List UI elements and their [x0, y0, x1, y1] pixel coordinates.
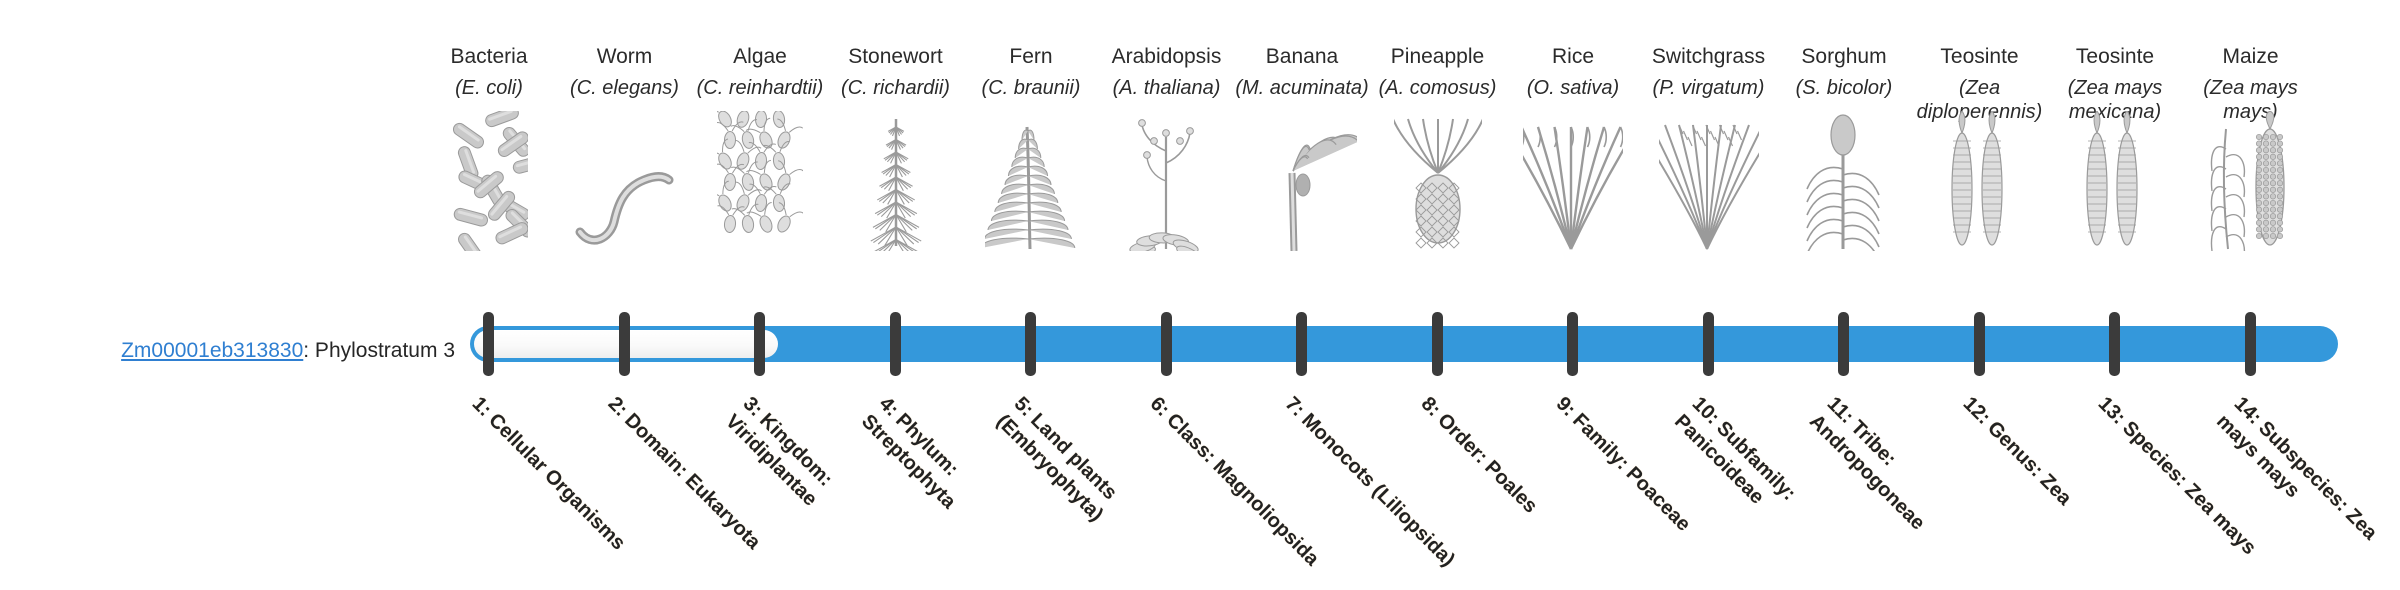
phylostratum-label: 14: Subspecies: Zea mays mays [2210, 392, 2400, 590]
species-common-name: Rice [1498, 44, 1648, 69]
species-common-name: Stonewort [821, 44, 971, 69]
species-column: Bacteria(E. coli)1: Cellular Organisms [414, 0, 564, 580]
species-column: Maize(Zea mays mays)14: Subspecies: Zea … [2176, 0, 2326, 580]
species-scientific-name: (E. coli) [414, 76, 564, 100]
bacteria-rods-illustration [414, 166, 564, 251]
phylostratum-tick[interactable] [1161, 312, 1172, 376]
phylostratum-tick[interactable] [2245, 312, 2256, 376]
species-scientific-name: (C. richardii) [821, 76, 971, 100]
species-column: Switchgrass(P. virgatum)10: Subfamily: P… [1634, 0, 1784, 580]
species-column: Pineapple(A. comosus)8: Order: Poales [1363, 0, 1513, 580]
teosinte-mexicana-ears-illustration [2040, 166, 2190, 251]
species-common-name: Teosinte [2040, 44, 2190, 69]
species-common-name: Algae [685, 44, 835, 69]
fern-frond-illustration [956, 166, 1106, 251]
phylostratum-tick[interactable] [1974, 312, 1985, 376]
sorghum-plant-illustration [1769, 166, 1919, 251]
species-common-name: Bacteria [414, 44, 564, 69]
phylostratum-tick[interactable] [1703, 312, 1714, 376]
species-common-name: Worm [550, 44, 700, 69]
species-scientific-name: (O. sativa) [1498, 76, 1648, 100]
species-column: Teosinte(Zea mays mexicana)13: Species: … [2040, 0, 2190, 580]
species-column: Arabidopsis(A. thaliana)6: Class: Magnol… [1092, 0, 1242, 580]
species-scientific-name: (C. braunii) [956, 76, 1106, 100]
phylostratum-tick[interactable] [483, 312, 494, 376]
phylostratum-tick[interactable] [1432, 312, 1443, 376]
species-column: Worm(C. elegans)2: Domain: Eukaryota [550, 0, 700, 580]
gene-id-link[interactable]: Zm00001eb313830 [121, 339, 303, 362]
phylostratum-tick[interactable] [1838, 312, 1849, 376]
species-common-name: Maize [2176, 44, 2326, 69]
pineapple-plant-illustration [1363, 166, 1513, 251]
teosinte-ears-illustration [1905, 166, 2055, 251]
species-column: Algae(C. reinhardtii)3: Kingdom: Viridip… [685, 0, 835, 580]
rice-plant-illustration [1498, 166, 1648, 251]
species-common-name: Switchgrass [1634, 44, 1784, 69]
species-common-name: Pineapple [1363, 44, 1513, 69]
switchgrass-plant-illustration [1634, 166, 1784, 251]
gene-row-label: Zm00001eb313830: Phylostratum 3 [0, 338, 455, 364]
phylostratum-tick[interactable] [619, 312, 630, 376]
species-scientific-name: (A. comosus) [1363, 76, 1513, 100]
stonewort-chara-illustration [821, 166, 971, 251]
species-column: Teosinte(Zea diploperennis)12: Genus: Ze… [1905, 0, 2055, 580]
species-column: Stonewort(C. richardii)4: Phylum: Strept… [821, 0, 971, 580]
phylostratum-tick[interactable] [754, 312, 765, 376]
phylostratum-timeline: Zm00001eb313830: Phylostratum 3 Bacteria… [0, 0, 2400, 580]
green-algae-cells-illustration [685, 166, 835, 251]
species-scientific-name: (C. reinhardtii) [685, 76, 835, 100]
species-common-name: Teosinte [1905, 44, 2055, 69]
species-column: Sorghum(S. bicolor)11: Tribe: Andropogon… [1769, 0, 1919, 580]
species-column: Fern(C. braunii)5: Land plants (Embryoph… [956, 0, 1106, 580]
species-scientific-name: (C. elegans) [550, 76, 700, 100]
species-common-name: Banana [1227, 44, 1377, 69]
species-column: Rice(O. sativa)9: Family: Poaceae [1498, 0, 1648, 580]
species-common-name: Arabidopsis [1092, 44, 1242, 69]
species-scientific-name: (A. thaliana) [1092, 76, 1242, 100]
phylostratum-tick[interactable] [1567, 312, 1578, 376]
phylostratum-tick[interactable] [1296, 312, 1307, 376]
maize-ear-illustration [2176, 166, 2326, 251]
species-common-name: Fern [956, 44, 1106, 69]
species-column: Banana(M. acuminata)7: Monocots (Liliops… [1227, 0, 1377, 580]
phylostratum-tick[interactable] [2109, 312, 2120, 376]
species-common-name: Sorghum [1769, 44, 1919, 69]
nematode-worm-illustration [550, 166, 700, 251]
phylostratum-tick[interactable] [1025, 312, 1036, 376]
species-scientific-name: (P. virgatum) [1634, 76, 1784, 100]
arabidopsis-plant-illustration [1092, 166, 1242, 251]
species-scientific-name: (M. acuminata) [1227, 76, 1377, 100]
banana-plant-illustration [1227, 166, 1377, 251]
species-scientific-name: (S. bicolor) [1769, 76, 1919, 100]
phylostratum-tick[interactable] [890, 312, 901, 376]
